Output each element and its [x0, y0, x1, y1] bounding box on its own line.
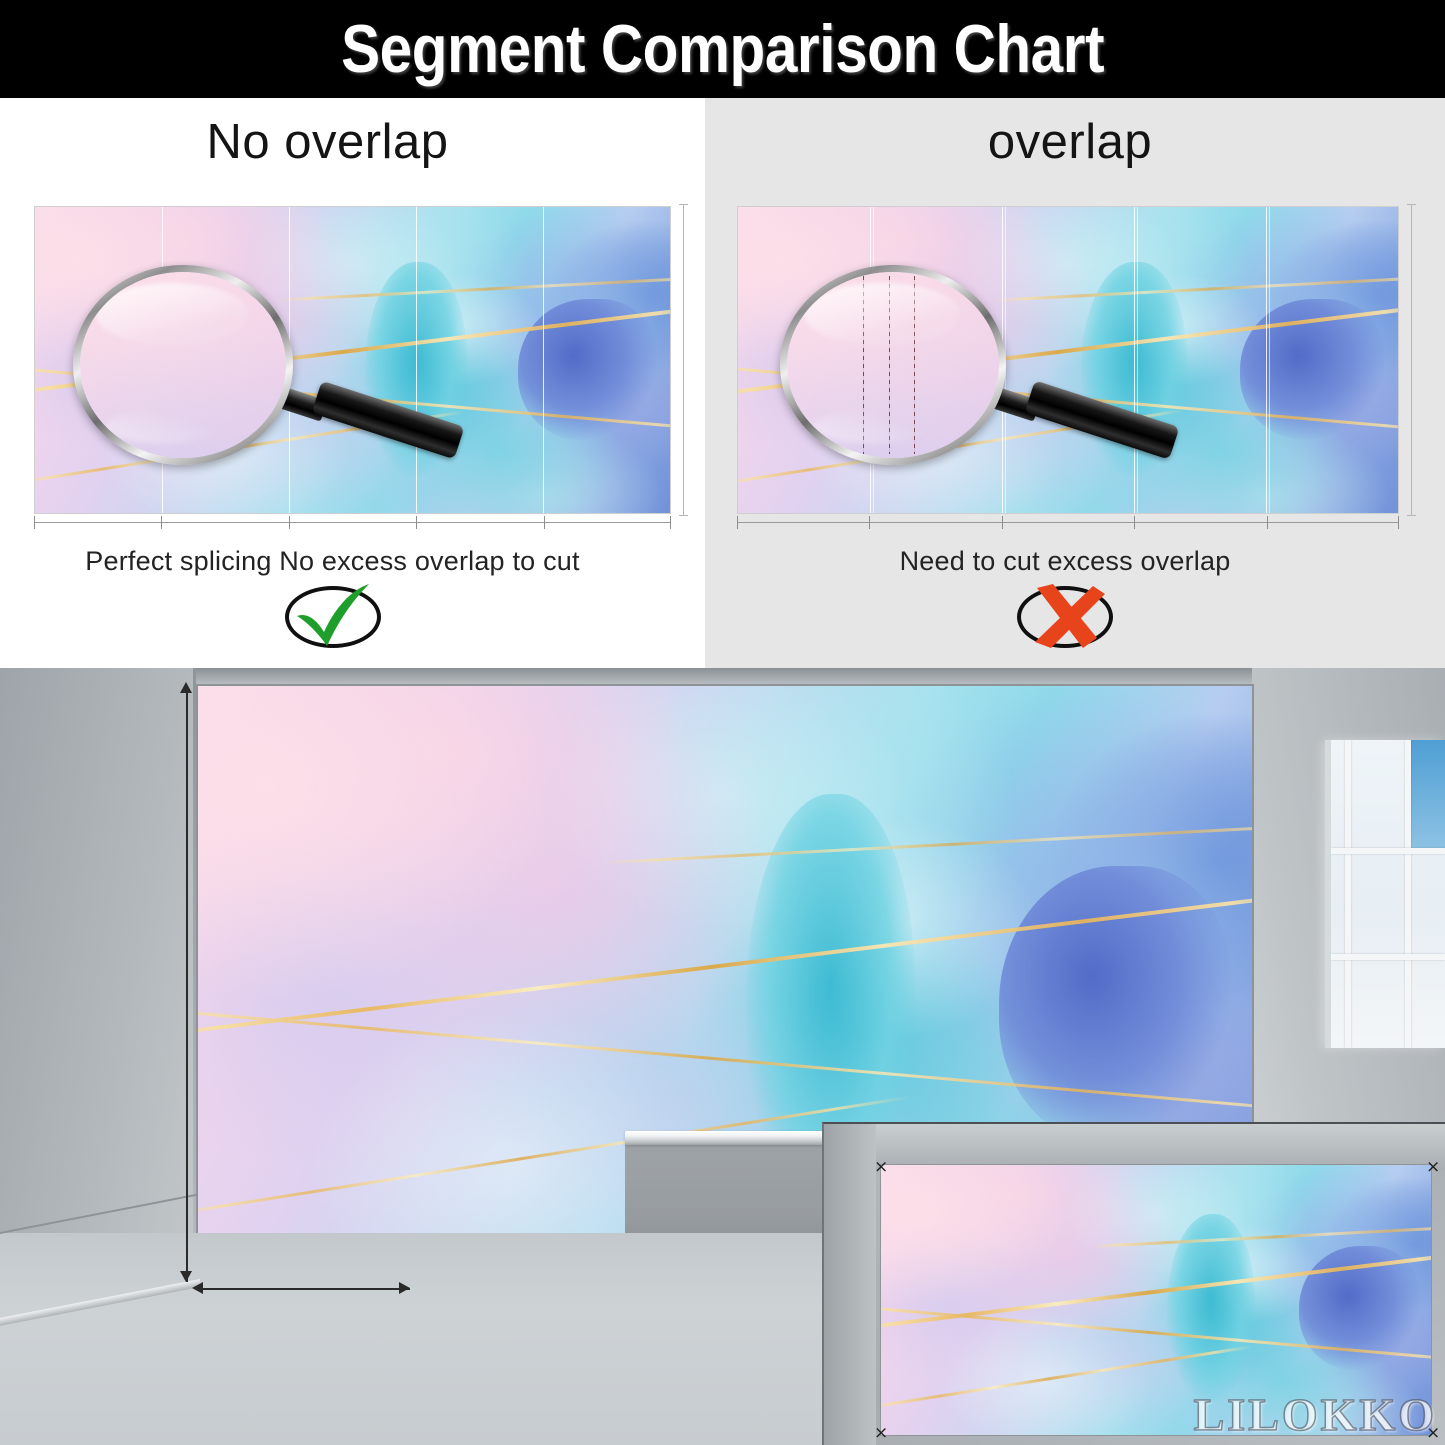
- sky-pane: [1409, 740, 1445, 852]
- caption-no-overlap: Perfect splicing No excess overlap to cu…: [0, 546, 705, 577]
- comparison-section: No overlap: [0, 98, 1445, 668]
- width-arrow-right: [399, 1282, 410, 1294]
- magnifier-icon: [73, 265, 293, 465]
- corner-marker-tl: ⨯: [874, 1158, 888, 1175]
- panel-heading-no-overlap: No overlap: [0, 114, 705, 170]
- title-bar: Segment Comparison Chart: [0, 0, 1445, 98]
- cross-icon: [1023, 582, 1109, 652]
- magnifier-lens: [780, 265, 1006, 465]
- inset-room-scene: ⨯ ⨯ ⨯ ⨯ LILOKKO: [822, 1122, 1445, 1445]
- height-rule: [683, 204, 684, 516]
- height-rule: [1411, 204, 1412, 516]
- panel-no-overlap: No overlap: [0, 98, 705, 668]
- mural-thumbnail: [737, 206, 1399, 514]
- mural-thumbnail: [34, 206, 671, 514]
- watermark: LILOKKO: [1194, 1388, 1437, 1441]
- corner-marker-bl: ⨯: [874, 1424, 888, 1441]
- magnifier-lens: [73, 265, 293, 465]
- panel-overlap: overlap: [705, 98, 1445, 668]
- corner-marker-tr: ⨯: [1426, 1158, 1440, 1175]
- magnifier-icon: [780, 265, 1006, 465]
- infographic-page: Segment Comparison Chart No overlap: [0, 0, 1445, 1445]
- height-arrow-top: [180, 682, 192, 693]
- thumbnail-overlap: [737, 206, 1399, 514]
- caption-overlap: Need to cut excess overlap: [705, 546, 1445, 577]
- inset-side-wall: [824, 1124, 876, 1445]
- width-arrow-left: [192, 1282, 203, 1294]
- verdict-cross: [705, 586, 1445, 648]
- height-dimension-line: [186, 686, 188, 1282]
- ceiling: [0, 668, 1445, 684]
- height-arrow-bottom: [180, 1271, 192, 1282]
- verdict-check: [0, 586, 705, 648]
- panel-heading-overlap: overlap: [705, 114, 1445, 170]
- thumbnail-no-overlap: [34, 206, 671, 514]
- measurement-ruler: [34, 514, 671, 536]
- measurement-ruler: [737, 514, 1399, 536]
- left-wall: [0, 668, 196, 1273]
- window: [1325, 740, 1445, 1048]
- page-title: Segment Comparison Chart: [341, 10, 1104, 88]
- width-dimension-line: [196, 1288, 410, 1290]
- check-icon: [291, 582, 377, 652]
